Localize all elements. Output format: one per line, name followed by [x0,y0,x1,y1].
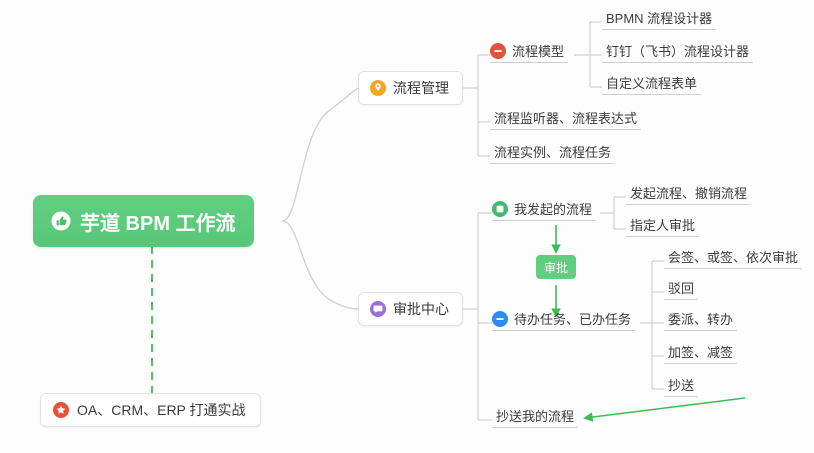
branch-node-liuchengguanli[interactable]: 流程管理 [358,71,463,105]
leaf-label: 会签、或签、依次审批 [668,250,798,265]
leaf-label: 我发起的流程 [514,202,592,217]
star-circle-icon [53,402,69,418]
footnote-node-oa-crm-erp[interactable]: OA、CRM、ERP 打通实战 [40,393,261,427]
leaf-node-liuchengmoxing[interactable]: 流程模型 [490,41,568,63]
tag-shenpi[interactable]: 审批 [536,255,576,279]
leaf-node-zhidingren-shenpi[interactable]: 指定人审批 [626,215,699,237]
leaf-node-chaosongwodeliucheng[interactable]: 抄送我的流程 [492,406,578,428]
leaf-label: BPMN 流程设计器 [606,11,712,26]
leaf-label: 待办任务、已办任务 [514,312,631,327]
leaf-node-huiqian-huoqian[interactable]: 会签、或签、依次审批 [664,247,802,269]
leaf-label: 流程实例、流程任务 [494,145,611,160]
square-circle-icon [492,201,508,217]
location-pin-icon [370,80,386,96]
leaf-label: 指定人审批 [630,218,695,233]
leaf-label: 流程模型 [512,44,564,59]
leaf-label: 钉钉（飞书）流程设计器 [606,44,749,59]
leaf-node-bohui[interactable]: 驳回 [664,278,698,300]
leaf-label: 流程监听器、流程表达式 [494,111,637,126]
leaf-node-chaosong[interactable]: 抄送 [664,375,698,397]
leaf-node-wofaqideliucheng[interactable]: 我发起的流程 [492,199,596,221]
leaf-label: 抄送我的流程 [496,409,574,424]
branch-label: 审批中心 [393,299,449,319]
branch-label: 流程管理 [393,78,449,98]
connector-root-to-liuchengguanli [282,88,358,221]
arrow-chaosong-to-chaosongwode [585,398,745,418]
leaf-node-dingding-designer[interactable]: 钉钉（飞书）流程设计器 [602,41,753,63]
root-label: 芋道 BPM 工作流 [80,207,236,236]
leaf-label: 加签、减签 [668,345,733,360]
mindmap-canvas: 芋道 BPM 工作流 流程管理 流程模型 BPMN 流程设计器 钉钉（飞书）流程… [0,0,814,453]
dash-circle-icon [492,311,508,327]
chat-bubble-icon [370,301,386,317]
leaf-node-weipai-zhuanban[interactable]: 委派、转办 [664,309,737,331]
leaf-label: 自定义流程表单 [606,76,697,91]
leaf-node-daiban-yiban[interactable]: 待办任务、已办任务 [492,309,635,331]
leaf-label: 发起流程、撤销流程 [630,186,747,201]
leaf-node-jiaqian-jianqian[interactable]: 加签、减签 [664,342,737,364]
leaf-label: 委派、转办 [668,312,733,327]
tag-label: 审批 [544,259,568,276]
leaf-node-bpmn-designer[interactable]: BPMN 流程设计器 [602,8,716,30]
leaf-label: 驳回 [668,281,694,296]
minus-circle-icon [490,43,506,59]
leaf-node-listener-expression[interactable]: 流程监听器、流程表达式 [490,108,641,130]
leaf-label: 抄送 [668,378,694,393]
leaf-node-faqi-chexiao[interactable]: 发起流程、撤销流程 [626,183,751,205]
leaf-node-custom-form[interactable]: 自定义流程表单 [602,73,701,95]
leaf-node-instance-task[interactable]: 流程实例、流程任务 [490,142,615,164]
root-node[interactable]: 芋道 BPM 工作流 [33,195,254,247]
branch-node-shenpizhongxin[interactable]: 审批中心 [358,292,463,326]
connector-root-to-shenpizhongxin [282,221,358,309]
footnote-label: OA、CRM、ERP 打通实战 [77,400,246,420]
thumbs-up-icon [51,211,71,231]
